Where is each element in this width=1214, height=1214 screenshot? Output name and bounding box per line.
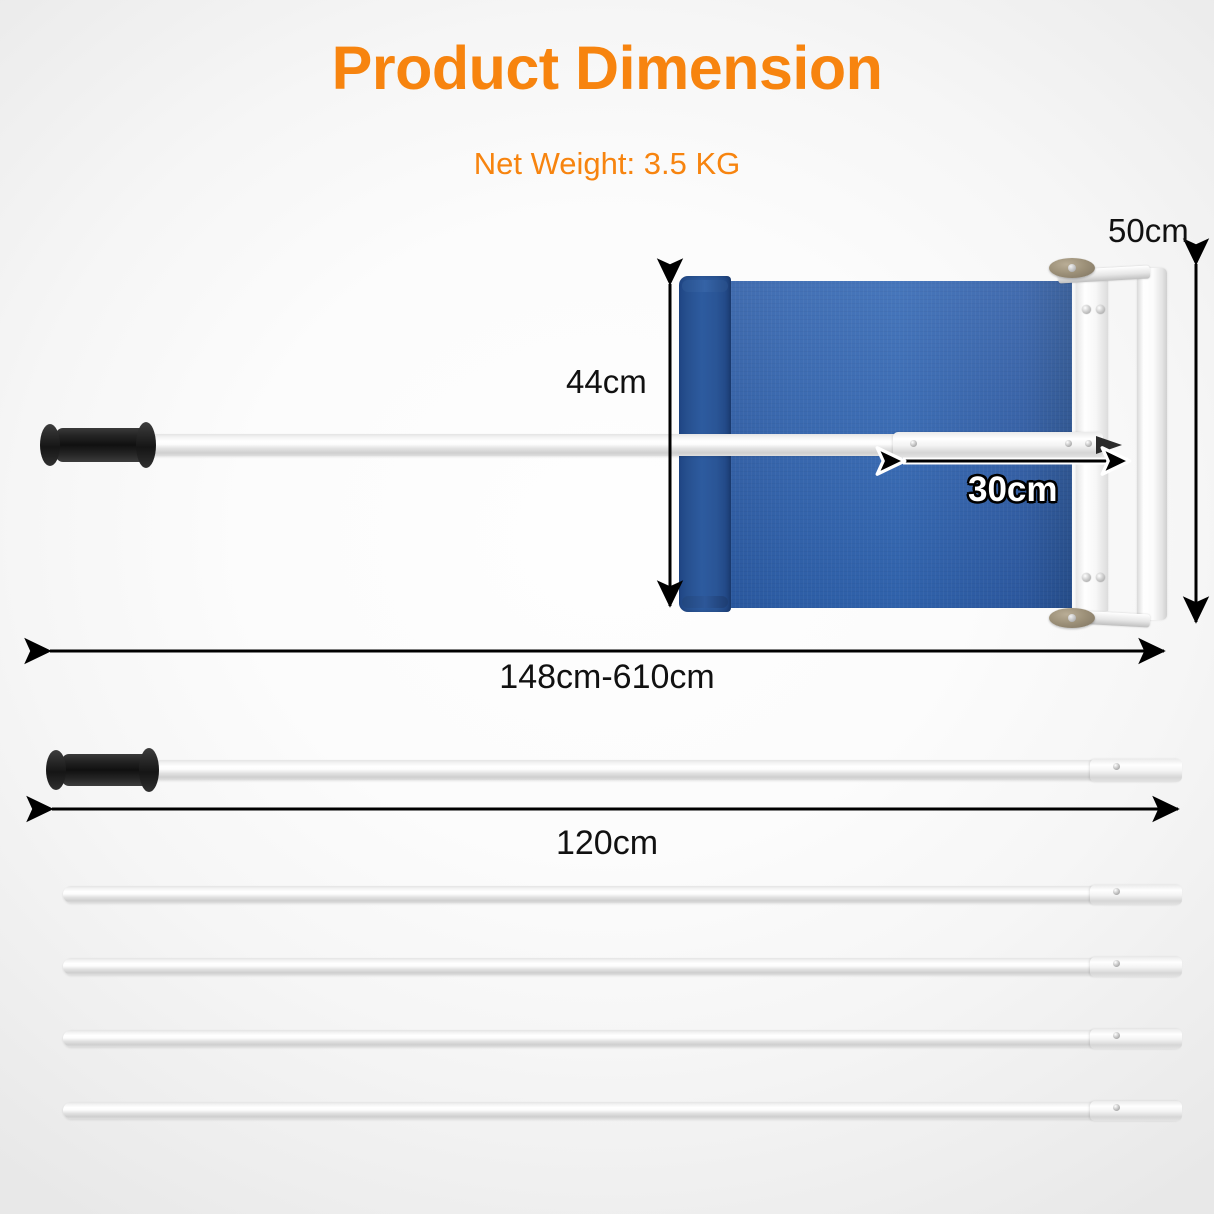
pole-pin-icon [1065, 440, 1072, 447]
label-44cm: 44cm [566, 365, 647, 398]
handle-pole-grip [62, 754, 150, 786]
extension-pole-2 [63, 958, 1180, 975]
extension-pole-3 [63, 1030, 1180, 1047]
rivet-icon [1082, 573, 1091, 582]
extension-pole-1-ferrule [1090, 885, 1182, 905]
rivet-icon [1096, 305, 1105, 314]
pole-tip-icon [1096, 436, 1122, 454]
handle-pole-ferrule [1090, 759, 1182, 782]
label-30cm: 30cm [968, 472, 1058, 507]
pulley-hub-icon [1068, 264, 1076, 272]
extension-pole-2-ferrule [1090, 957, 1182, 977]
rivet-icon [1082, 305, 1091, 314]
handle-pole [150, 760, 1180, 780]
grip-collar-right [139, 748, 159, 792]
pole-pin-icon [910, 440, 917, 447]
frame-outer-rail [1137, 268, 1167, 620]
page-title: Product Dimension [0, 36, 1214, 100]
extension-pole-3-ferrule [1090, 1029, 1182, 1049]
page-subtitle: Net Weight: 3.5 KG [0, 146, 1214, 182]
grip-collar-left [46, 750, 66, 790]
label-120cm: 120cm [0, 826, 1214, 860]
pulley-hub-icon [1068, 614, 1076, 622]
grip-collar-left [40, 424, 60, 466]
label-50cm: 50cm [1108, 214, 1189, 247]
label-148-610cm: 148cm-610cm [0, 660, 1214, 694]
pulley-wheel-top [1049, 258, 1095, 278]
rivet-icon [1096, 573, 1105, 582]
pole-pin-icon [1113, 1032, 1120, 1039]
pole-pin-icon [1113, 1104, 1120, 1111]
pole-pin-icon [1085, 440, 1092, 447]
extension-pole-1 [63, 886, 1180, 903]
grip-collar-right [136, 422, 156, 468]
product-dimension-diagram: Product Dimension Net Weight: 3.5 KG [0, 0, 1214, 1214]
main-pole-grip [56, 428, 148, 462]
pole-pin-icon [1113, 960, 1120, 967]
pulley-wheel-bottom [1049, 608, 1095, 628]
extension-pole-4-ferrule [1090, 1101, 1182, 1121]
pole-pin-icon [1113, 888, 1120, 895]
extension-pole-4 [63, 1102, 1180, 1119]
pole-pin-icon [1113, 763, 1120, 770]
